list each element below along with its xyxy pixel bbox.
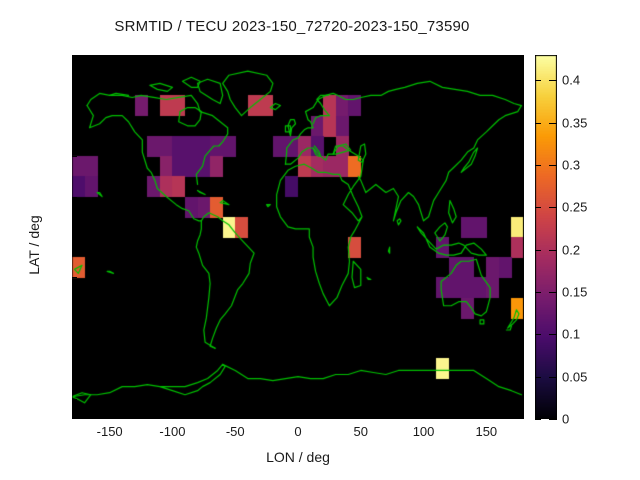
x-tick-label: 150	[475, 424, 497, 439]
x-tick-mark	[235, 414, 236, 419]
colorbar-gradient	[535, 55, 557, 419]
x-tick-label: -100	[159, 424, 185, 439]
colorbar-tick-mark-left	[535, 334, 541, 335]
colorbar-tick-label: 0	[562, 412, 569, 427]
x-tick-label: 100	[413, 424, 435, 439]
x-tick-mark	[486, 414, 487, 419]
colorbar-tick-mark	[549, 334, 557, 335]
colorbar-tick-label: 0.2	[562, 242, 580, 257]
y-axis-label: LAT / deg	[26, 185, 42, 305]
y-tick-mark	[72, 399, 77, 400]
heatmap-canvas	[72, 55, 524, 419]
x-tick-label: -150	[97, 424, 123, 439]
colorbar-tick-label: 0.1	[562, 327, 580, 342]
colorbar-tick-label: 0.3	[562, 158, 580, 173]
colorbar-tick-label: 0.05	[562, 369, 587, 384]
x-tick-label: -50	[226, 424, 245, 439]
y-tick-mark	[72, 75, 77, 76]
colorbar-tick-mark	[549, 292, 557, 293]
x-tick-mark	[424, 414, 425, 419]
colorbar-tick-mark-left	[535, 165, 541, 166]
colorbar-tick-mark	[549, 377, 557, 378]
colorbar-tick-mark	[549, 80, 557, 81]
y-tick-mark	[72, 156, 77, 157]
colorbar-tick-label: 0.15	[562, 285, 587, 300]
y-tick-mark	[72, 277, 77, 278]
y-tick-mark	[72, 237, 77, 238]
colorbar	[535, 55, 557, 419]
x-tick-mark	[298, 414, 299, 419]
colorbar-tick-mark	[549, 250, 557, 251]
colorbar-tick-mark	[549, 207, 557, 208]
x-tick-label: 50	[354, 424, 368, 439]
colorbar-tick-mark-left	[535, 80, 541, 81]
colorbar-tick-label: 0.25	[562, 200, 587, 215]
colorbar-tick-mark	[549, 165, 557, 166]
colorbar-tick-mark	[549, 123, 557, 124]
colorbar-tick-mark-left	[535, 207, 541, 208]
y-tick-mark	[72, 318, 77, 319]
chart-figure: SRMTID / TECU 2023-150_72720-2023-150_73…	[0, 0, 640, 480]
y-tick-mark	[72, 358, 77, 359]
x-tick-label: 0	[294, 424, 301, 439]
colorbar-tick-label: 0.35	[562, 115, 587, 130]
colorbar-tick-mark-left	[535, 377, 541, 378]
colorbar-tick-mark-left	[535, 292, 541, 293]
x-tick-mark	[172, 414, 173, 419]
colorbar-tick-mark-left	[535, 123, 541, 124]
x-axis-label: LON / deg	[72, 449, 524, 465]
chart-title: SRMTID / TECU 2023-150_72720-2023-150_73…	[0, 18, 584, 35]
colorbar-tick-mark-left	[535, 419, 541, 420]
colorbar-tick-mark-left	[535, 250, 541, 251]
y-tick-mark	[72, 116, 77, 117]
map-plot-area	[72, 55, 524, 419]
y-tick-mark	[72, 197, 77, 198]
x-tick-mark	[110, 414, 111, 419]
x-tick-mark	[361, 414, 362, 419]
colorbar-tick-mark	[549, 419, 557, 420]
colorbar-tick-label: 0.4	[562, 73, 580, 88]
